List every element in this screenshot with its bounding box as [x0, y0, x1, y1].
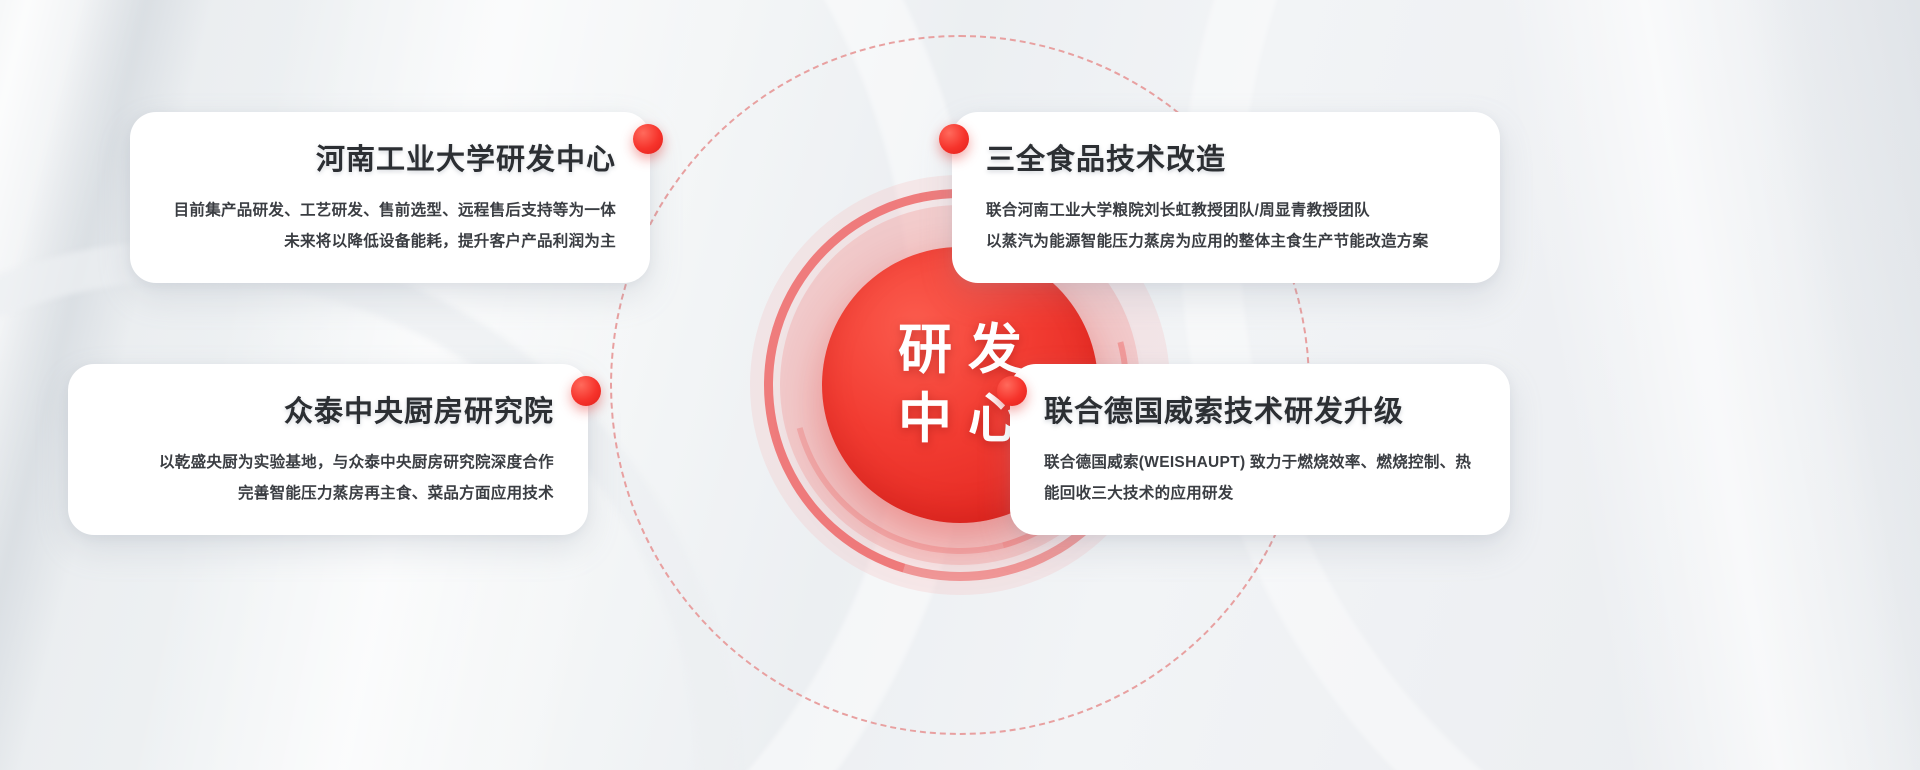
card-body-line: 以乾盛央厨为实验基地，与众泰中央厨房研究院深度合作 [102, 447, 554, 478]
card-body-line: 以蒸汽为能源智能压力蒸房为应用的整体主食生产节能改造方案 [986, 226, 1466, 257]
card-sanquan-food-tech-upgrade[interactable]: 三全食品技术改造 联合河南工业大学粮院刘长虹教授团队/周显青教授团队 以蒸汽为能… [952, 112, 1500, 283]
card-body-line: 未来将以降低设备能耗，提升客户产品利润为主 [164, 226, 616, 257]
card-body-line: 完善智能压力蒸房再主食、菜品方面应用技术 [102, 478, 554, 509]
card-body-line: 联合河南工业大学粮院刘长虹教授团队/周显青教授团队 [986, 195, 1466, 226]
card-marker-dot-icon [939, 124, 969, 154]
card-title: 联合德国威索技术研发升级 [1044, 388, 1476, 430]
card-title: 众泰中央厨房研究院 [102, 388, 554, 430]
card-body-line: 联合德国威索(WEISHAUPT) 致力于燃烧效率、燃烧控制、热 [1044, 447, 1476, 478]
card-marker-dot-icon [571, 376, 601, 406]
card-marker-dot-icon [633, 124, 663, 154]
card-body-line: 能回收三大技术的应用研发 [1044, 478, 1476, 509]
card-henan-university-rd-center[interactable]: 河南工业大学研发中心 目前集产品研发、工艺研发、售前选型、远程售后支持等为一体 … [130, 112, 650, 283]
card-title: 河南工业大学研发中心 [164, 136, 616, 178]
card-weishaupt-joint-rd-upgrade[interactable]: 联合德国威索技术研发升级 联合德国威索(WEISHAUPT) 致力于燃烧效率、燃… [1010, 364, 1510, 535]
card-marker-dot-icon [997, 376, 1027, 406]
card-title: 三全食品技术改造 [986, 136, 1466, 178]
card-zhongtai-central-kitchen-institute[interactable]: 众泰中央厨房研究院 以乾盛央厨为实验基地，与众泰中央厨房研究院深度合作 完善智能… [68, 364, 588, 535]
card-body-line: 目前集产品研发、工艺研发、售前选型、远程售后支持等为一体 [164, 195, 616, 226]
